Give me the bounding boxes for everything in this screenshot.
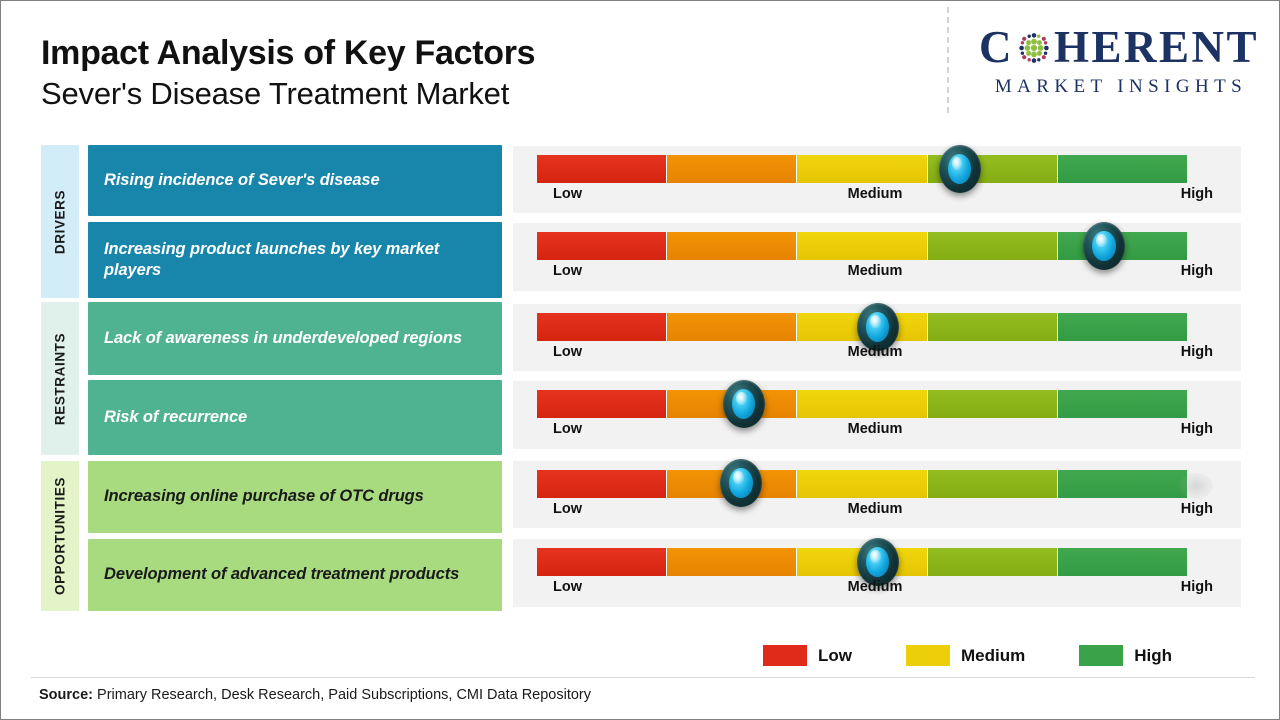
gauge-segment-1 — [537, 390, 667, 418]
legend-label-medium: Medium — [961, 646, 1025, 666]
gauge-bar — [537, 548, 1187, 576]
scale-label-medium: Medium — [848, 421, 903, 437]
gauge-scale: Low Medium High — [537, 501, 1213, 523]
factor-box[interactable]: Risk of recurrence — [88, 380, 502, 455]
gauge-scale: Low Medium High — [537, 263, 1213, 285]
gauge-segment-4 — [928, 390, 1058, 418]
scale-label-low: Low — [553, 421, 582, 437]
logo-word-remainder: HERENT — [1054, 25, 1259, 70]
gauge-bar — [537, 470, 1187, 498]
group-tab-label: DRIVERS — [53, 189, 68, 253]
gauge-segment-2 — [667, 232, 797, 260]
scale-label-medium: Medium — [848, 501, 903, 517]
gauge-panel: Low Medium High — [513, 381, 1241, 449]
gauge-segment-5 — [1058, 470, 1187, 498]
gauge-segment-4 — [928, 313, 1058, 341]
gauge-bar — [537, 313, 1187, 341]
scale-label-medium: Medium — [848, 344, 903, 360]
legend-label-high: High — [1134, 646, 1172, 666]
gauge-segment-3 — [797, 548, 927, 576]
logo-letter-c: C — [979, 25, 1014, 70]
header-dashed-divider — [947, 7, 949, 113]
gauge-segment-1 — [537, 313, 667, 341]
globe-dots-icon — [1015, 29, 1053, 67]
source-label: Source: — [39, 687, 93, 703]
gauge-segment-2 — [667, 390, 797, 418]
scale-label-low: Low — [553, 501, 582, 517]
gauge-scale: Low Medium High — [537, 186, 1213, 208]
factor-box[interactable]: Increasing product launches by key marke… — [88, 222, 502, 298]
legend-item-medium: Medium — [906, 645, 1025, 666]
gauge-segment-1 — [537, 548, 667, 576]
gauge-bar — [537, 390, 1187, 418]
gauge-segment-4 — [928, 232, 1058, 260]
legend-item-high: High — [1079, 645, 1172, 666]
scale-label-high: High — [1181, 186, 1213, 202]
legend-label-low: Low — [818, 646, 852, 666]
gauge-segment-3 — [797, 232, 927, 260]
gauge-bar — [537, 155, 1187, 183]
group-tab-opportunities: OPPORTUNITIES — [41, 461, 79, 611]
gauge-segment-1 — [537, 232, 667, 260]
gauge-panel: Low Medium High — [513, 539, 1241, 607]
legend-swatch-low — [763, 645, 807, 666]
factor-label: Increasing online purchase of OTC drugs — [104, 486, 424, 507]
render-artifact-smudge — [1179, 473, 1213, 499]
gauge-segment-2 — [667, 313, 797, 341]
page-title: Impact Analysis of Key Factors — [41, 33, 535, 73]
scale-label-medium: Medium — [848, 579, 903, 595]
scale-label-high: High — [1181, 344, 1213, 360]
logo-tagline: MARKET INSIGHTS — [979, 76, 1259, 98]
gauge-segment-3 — [797, 470, 927, 498]
factor-label: Increasing product launches by key marke… — [104, 239, 486, 281]
legend-swatch-high — [1079, 645, 1123, 666]
scale-label-low: Low — [553, 344, 582, 360]
factor-label: Lack of awareness in underdeveloped regi… — [104, 328, 462, 349]
scale-label-low: Low — [553, 263, 582, 279]
gauge-segment-4 — [928, 155, 1058, 183]
gauge-segment-3 — [797, 313, 927, 341]
gauge-segment-2 — [667, 155, 797, 183]
gauge-segment-4 — [928, 548, 1058, 576]
scale-label-medium: Medium — [848, 263, 903, 279]
factor-label: Rising incidence of Sever's disease — [104, 170, 380, 191]
gauge-scale: Low Medium High — [537, 344, 1213, 366]
title-block: Impact Analysis of Key Factors Sever's D… — [41, 33, 535, 115]
gauge-bar — [537, 232, 1187, 260]
gauge-segment-5 — [1058, 390, 1187, 418]
gauge-segment-5 — [1058, 232, 1187, 260]
page-subtitle: Sever's Disease Treatment Market — [41, 73, 535, 115]
legend: Low Medium High — [763, 645, 1172, 666]
group-tab-drivers: DRIVERS — [41, 145, 79, 298]
gauge-segment-5 — [1058, 313, 1187, 341]
source-line: Source: Primary Research, Desk Research,… — [39, 687, 591, 703]
group-tab-restraints: RESTRAINTS — [41, 302, 79, 455]
gauge-scale: Low Medium High — [537, 579, 1213, 601]
gauge-segment-4 — [928, 470, 1058, 498]
logo-wordmark: C — [979, 25, 1259, 70]
factor-label: Risk of recurrence — [104, 407, 247, 428]
company-logo: C — [979, 25, 1259, 98]
gauge-panel: Low Medium High — [513, 223, 1241, 291]
scale-label-low: Low — [553, 579, 582, 595]
scale-label-high: High — [1181, 501, 1213, 517]
gauge-segment-2 — [667, 548, 797, 576]
factor-box[interactable]: Lack of awareness in underdeveloped regi… — [88, 302, 502, 375]
footer-divider — [31, 677, 1255, 678]
scale-label-high: High — [1181, 421, 1213, 437]
legend-item-low: Low — [763, 645, 852, 666]
gauge-panel: Low Medium High — [513, 461, 1241, 528]
factor-label: Development of advanced treatment produc… — [104, 564, 459, 585]
source-text: Primary Research, Desk Research, Paid Su… — [93, 687, 591, 703]
gauge-segment-3 — [797, 155, 927, 183]
scale-label-medium: Medium — [848, 186, 903, 202]
gauge-segment-5 — [1058, 155, 1187, 183]
gauge-segment-3 — [797, 390, 927, 418]
scale-label-high: High — [1181, 579, 1213, 595]
gauge-segment-5 — [1058, 548, 1187, 576]
gauge-scale: Low Medium High — [537, 421, 1213, 443]
scale-label-low: Low — [553, 186, 582, 202]
group-tab-label: RESTRAINTS — [53, 332, 68, 424]
gauge-segment-1 — [537, 470, 667, 498]
gauge-segment-2 — [667, 470, 797, 498]
gauge-panel: Low Medium High — [513, 146, 1241, 213]
infographic-canvas: Impact Analysis of Key Factors Sever's D… — [0, 0, 1280, 720]
gauge-panel: Low Medium High — [513, 304, 1241, 371]
legend-swatch-medium — [906, 645, 950, 666]
factor-box[interactable]: Rising incidence of Sever's disease — [88, 145, 502, 216]
header: Impact Analysis of Key Factors Sever's D… — [1, 1, 1280, 133]
gauge-segment-1 — [537, 155, 667, 183]
factor-box[interactable]: Development of advanced treatment produc… — [88, 539, 502, 611]
group-tab-label: OPPORTUNITIES — [53, 477, 68, 595]
scale-label-high: High — [1181, 263, 1213, 279]
factor-box[interactable]: Increasing online purchase of OTC drugs — [88, 461, 502, 533]
